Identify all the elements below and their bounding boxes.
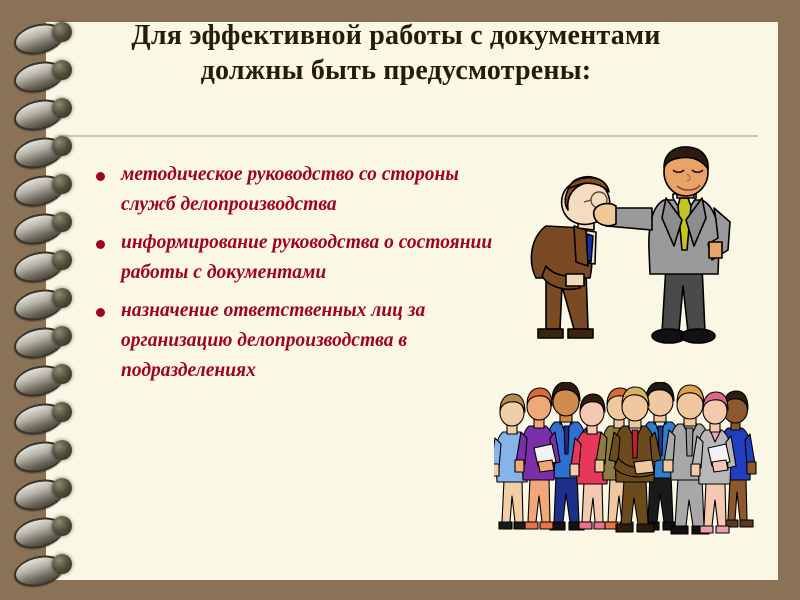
title-divider xyxy=(58,135,758,137)
bullet-dot-icon xyxy=(96,172,105,181)
group-of-business-people-icon xyxy=(494,382,766,542)
page-title-line-1: Для эффективной работы с документами xyxy=(46,18,746,53)
list-item-label: назначение ответственных лиц за организа… xyxy=(121,296,516,386)
list-item: методическое руководство со стороны служ… xyxy=(96,160,516,220)
bullet-dot-icon xyxy=(96,240,105,249)
illustration-group-of-people xyxy=(494,382,766,542)
page-title: Для эффективной работы с документами дол… xyxy=(46,18,746,88)
list-item-label: информирование руководства о состоянии р… xyxy=(121,228,516,288)
illustration-manager-and-employee xyxy=(516,146,760,356)
list-item-label: методическое руководство со стороны служ… xyxy=(121,160,516,220)
page-title-line-2: должны быть предусмотрены: xyxy=(46,53,746,88)
bullet-dot-icon xyxy=(96,308,105,317)
slide-canvas: Для эффективной работы с документами дол… xyxy=(0,0,800,600)
list-item: информирование руководства о состоянии р… xyxy=(96,228,516,288)
bullet-list: методическое руководство со стороны служ… xyxy=(96,160,516,394)
list-item: назначение ответственных лиц за организа… xyxy=(96,296,516,386)
manager-patting-bowing-employee-icon xyxy=(516,146,760,356)
